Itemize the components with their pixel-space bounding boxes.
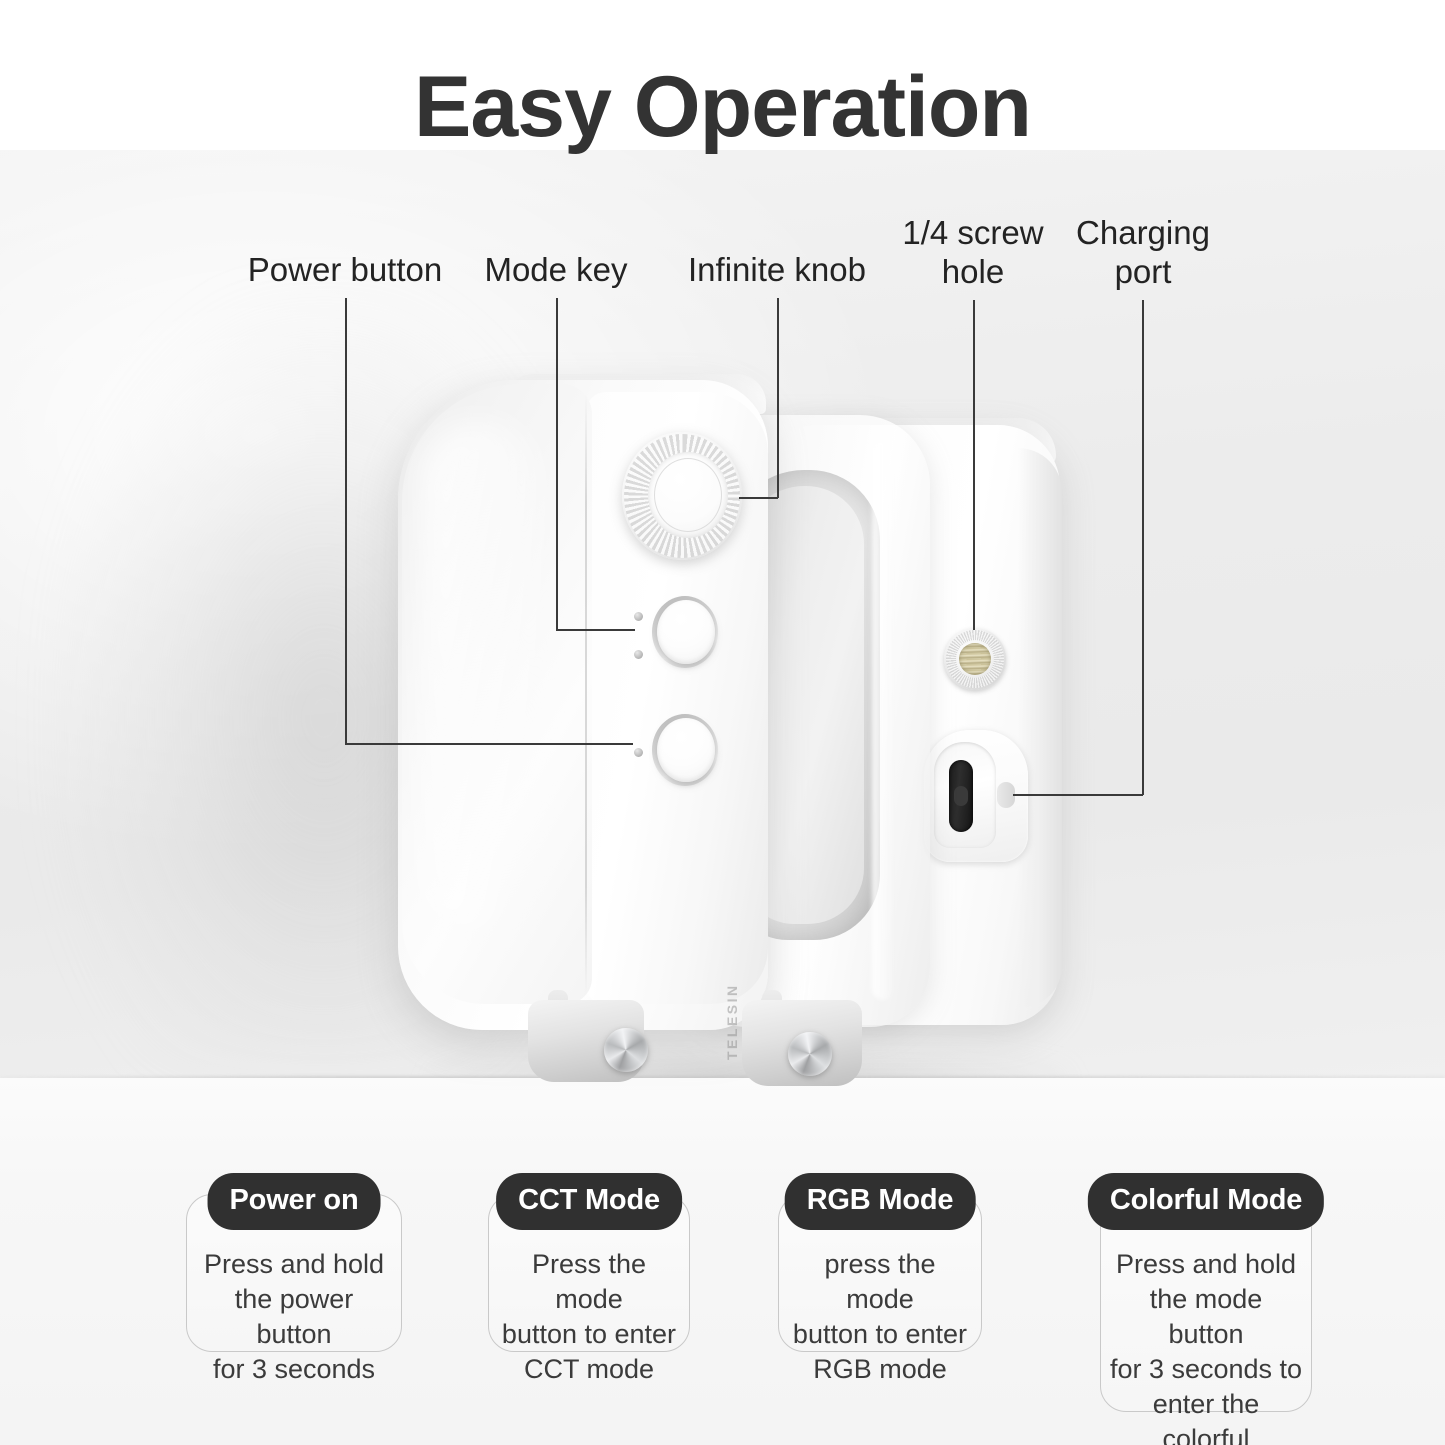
leader-mode-key-vertical [556, 298, 558, 630]
info-card-cct-mode-body: Press the mode button to enter CCT mode [489, 1247, 689, 1387]
badge-power-on: Power on [208, 1173, 381, 1230]
front-unit-gloss-highlight [420, 420, 540, 940]
leader-power-button-horizontal [345, 743, 633, 745]
badge-cct-mode: CCT Mode [496, 1173, 682, 1230]
led-indicator-dot-1 [634, 612, 643, 621]
infographic-page: Easy Operation [0, 0, 1445, 1445]
info-card-rgb-mode-body: press the mode button to enter RGB mode [779, 1247, 981, 1387]
led-indicator-dot-2 [634, 650, 643, 659]
info-card-colorful-mode[interactable]: Colorful Mode Press and hold the mode bu… [1100, 1194, 1312, 1412]
leader-infinite-knob-horizontal [739, 497, 778, 499]
thumbscrew-left-icon [604, 1028, 648, 1072]
led-indicator-dot-3 [634, 748, 643, 757]
power-button-icon [657, 718, 715, 782]
leader-screw-hole-vertical [973, 300, 975, 630]
callout-label-mode-key: Mode key [456, 251, 656, 290]
info-card-cct-mode[interactable]: CCT Mode Press the mode button to enter … [488, 1194, 690, 1352]
infinite-knob-face-ring [654, 458, 722, 532]
rear-unit-right-edge [1018, 448, 1062, 1008]
thumbscrew-right-icon [788, 1032, 832, 1076]
badge-rgb-mode: RGB Mode [785, 1173, 976, 1230]
leader-mode-key-horizontal [556, 629, 635, 631]
info-card-power-on[interactable]: Power on Press and hold the power button… [186, 1194, 402, 1352]
usb-c-tongue [954, 786, 968, 806]
info-card-power-on-body: Press and hold the power button for 3 se… [187, 1247, 401, 1387]
callout-label-screw-hole: 1/4 screw hole [883, 214, 1063, 291]
badge-colorful-mode: Colorful Mode [1088, 1173, 1324, 1230]
front-unit-panel-seam [585, 394, 587, 994]
callout-label-power-button: Power button [225, 251, 465, 290]
callout-label-charging-port: Charging port [1060, 214, 1226, 291]
brand-logo-text: TELESIN [724, 978, 746, 1060]
info-card-colorful-mode-body: Press and hold the mode button for 3 sec… [1101, 1247, 1311, 1445]
info-cards: Power on Press and hold the power button… [0, 1172, 1445, 1432]
leader-charging-port-horizontal [1013, 794, 1143, 796]
info-card-rgb-mode[interactable]: RGB Mode press the mode button to enter … [778, 1194, 982, 1352]
leader-power-button-vertical [345, 298, 347, 744]
callout-label-infinite-knob: Infinite knob [667, 251, 887, 290]
mode-key-button-icon [657, 600, 715, 664]
leader-charging-port-vertical [1142, 300, 1144, 795]
screw-hole-brass-thread-icon [959, 643, 991, 675]
leader-infinite-knob-vertical [777, 298, 779, 498]
diffuser-rim-highlight [872, 440, 894, 1000]
